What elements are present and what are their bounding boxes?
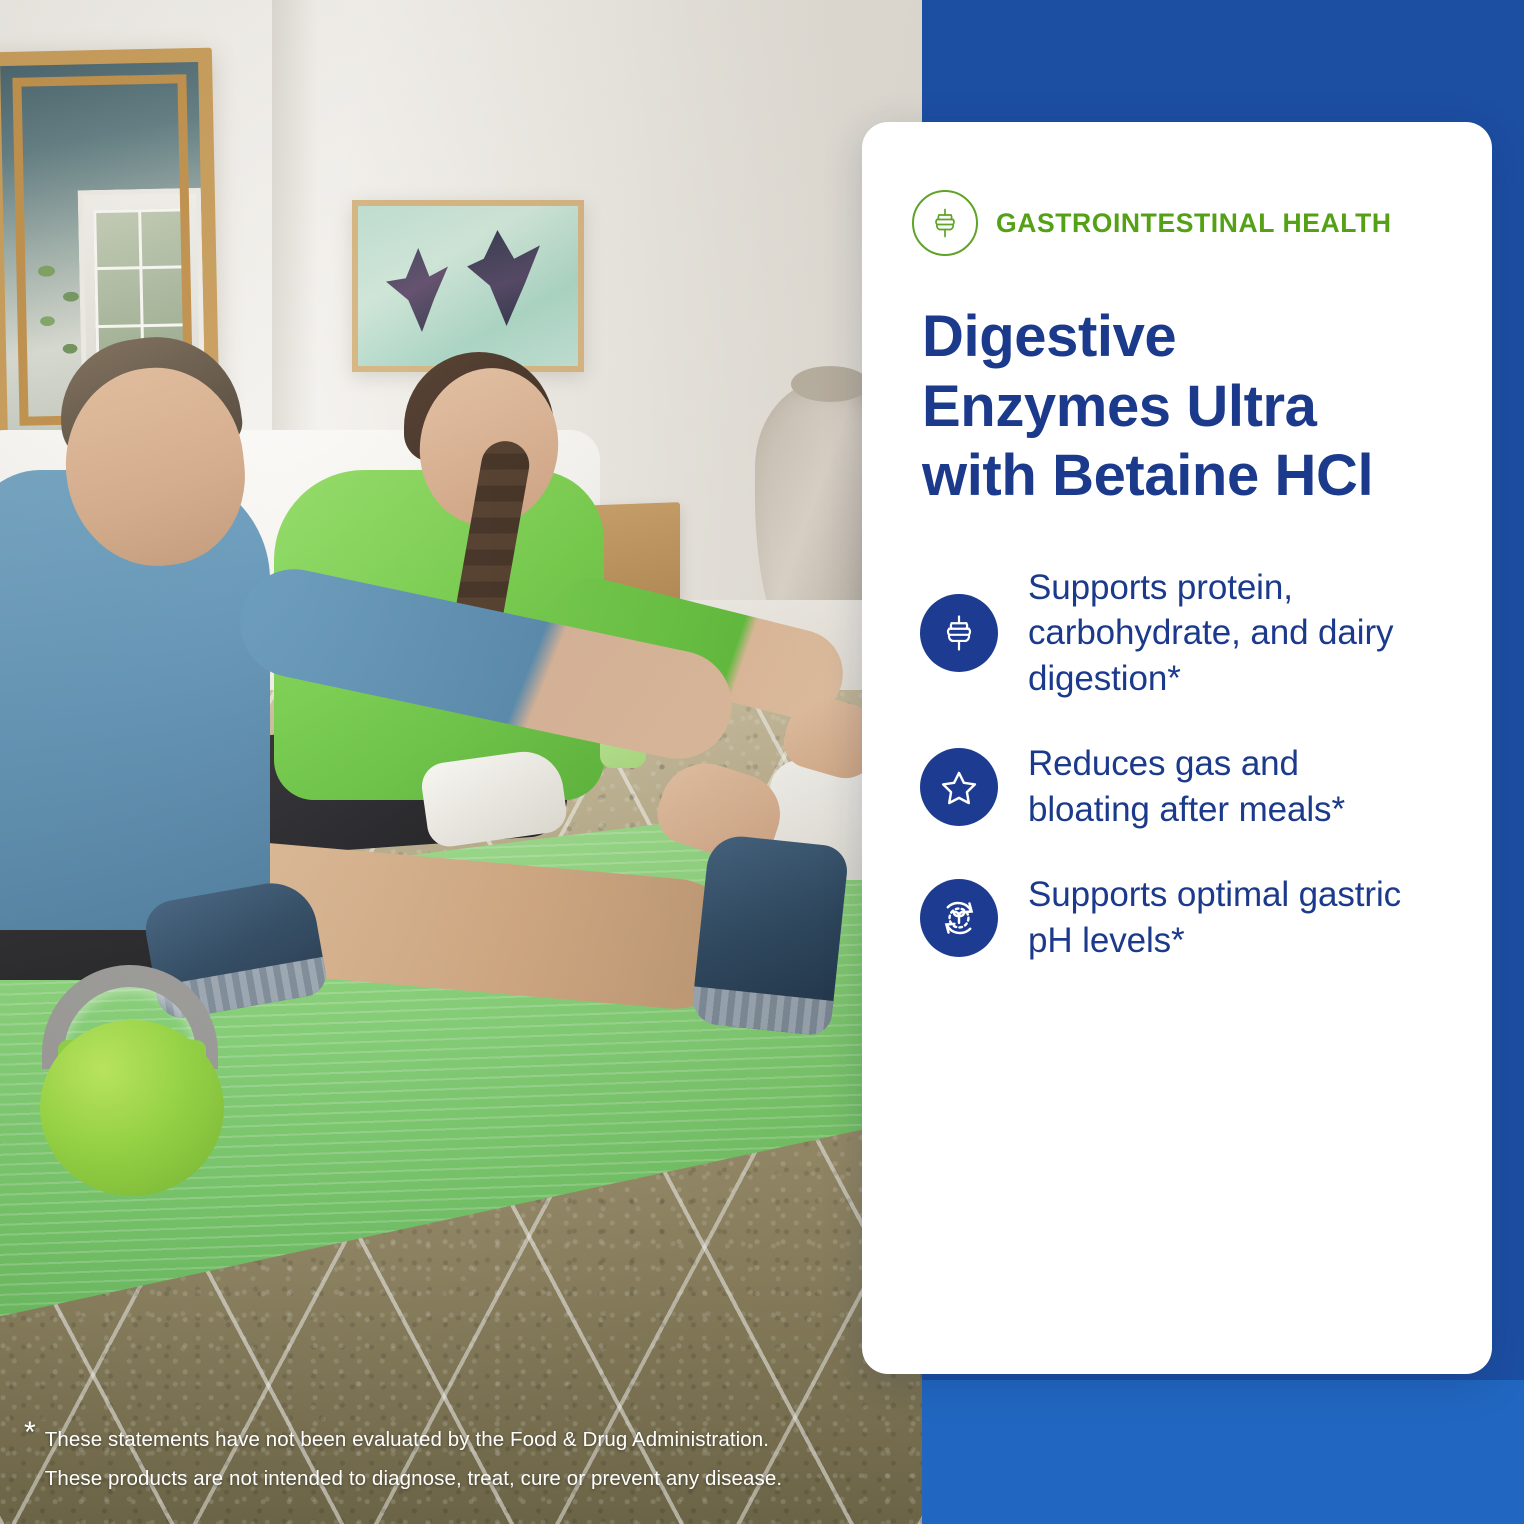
benefit-item: Supports protein, carbohydrate, and dair… (920, 565, 1432, 702)
disclaimer-line-2: These products are not intended to diagn… (45, 1459, 782, 1498)
lifestyle-photo: * These statements have not been evaluat… (0, 0, 922, 1524)
benefit-item: Reduces gas and bloating after meals* (920, 741, 1432, 832)
product-info-card: GASTROINTESTINAL HEALTH Digestive Enzyme… (862, 122, 1492, 1374)
bird-artwork-canvas (358, 206, 578, 366)
benefit-item: Supports optimal gastric pH levels* (920, 872, 1432, 963)
page-title: Digestive Enzymes Ultra with Betaine HCl (922, 302, 1427, 511)
benefit-text: Supports optimal gastric pH levels* (1028, 872, 1423, 963)
intestine-icon (920, 594, 998, 672)
benefit-text: Reduces gas and bloating after meals* (1028, 741, 1423, 832)
disclaimer-lines: These statements have not been evaluated… (45, 1420, 782, 1498)
benefit-text: Supports protein, carbohydrate, and dair… (1028, 565, 1423, 702)
category-label: GASTROINTESTINAL HEALTH (996, 208, 1392, 239)
fda-disclaimer: * These statements have not been evaluat… (24, 1420, 904, 1498)
disclaimer-asterisk: * (24, 1418, 36, 1448)
bird-shape (386, 248, 448, 332)
category-badge: GASTROINTESTINAL HEALTH (912, 190, 1432, 256)
bird-artwork-frame (352, 200, 584, 372)
kettlebell-ball (40, 1020, 224, 1196)
benefits-list: Supports protein, carbohydrate, and dair… (920, 565, 1432, 964)
bird-shape (464, 230, 540, 326)
renewal-sprout-icon (920, 879, 998, 957)
disclaimer-line-1: These statements have not been evaluated… (45, 1420, 782, 1459)
star-icon (920, 748, 998, 826)
intestine-icon (912, 190, 978, 256)
promo-graphic: * These statements have not been evaluat… (0, 0, 1524, 1524)
man-shoe-right (690, 833, 849, 1037)
